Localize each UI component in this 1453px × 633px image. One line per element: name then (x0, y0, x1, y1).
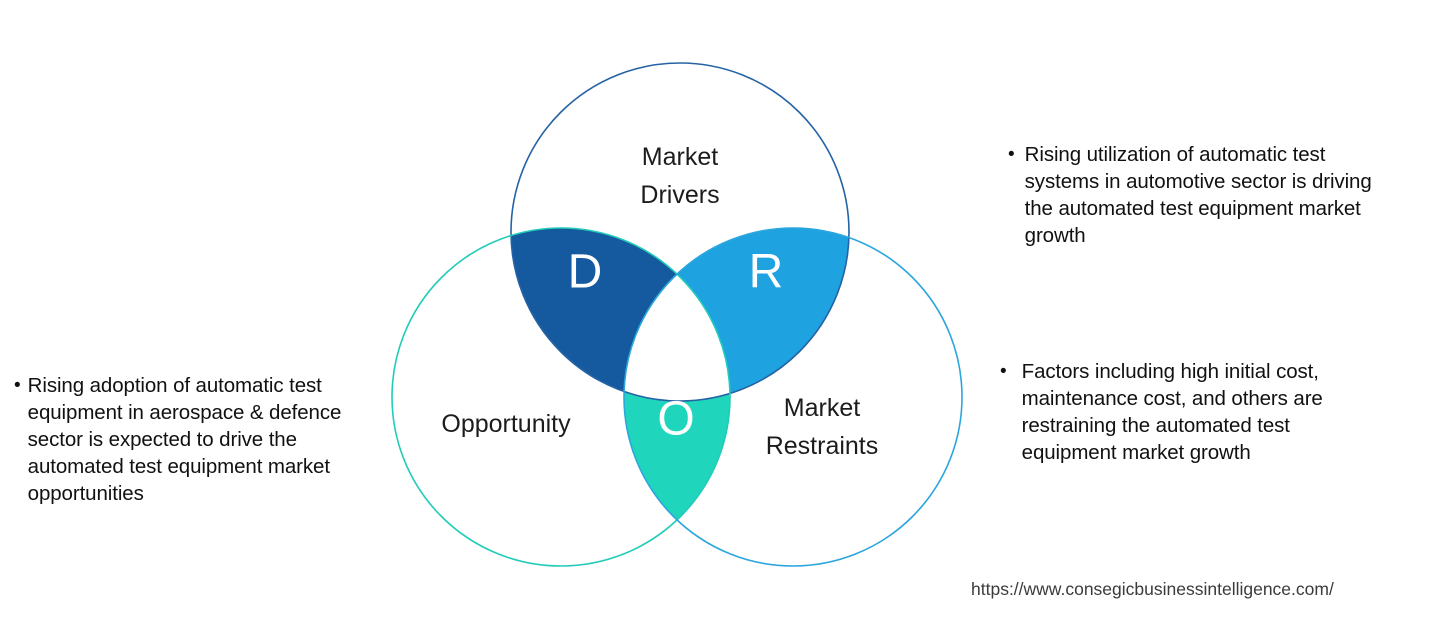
lens-letter-r: R (749, 246, 784, 299)
callout-drivers: • Rising utilization of automatic test s… (1008, 141, 1408, 249)
circle-label-opportunity: Opportunity (441, 410, 571, 438)
callout-opportunity: • Rising adoption of automatic test equi… (14, 372, 364, 507)
source-url[interactable]: https://www.consegicbusinessintelligence… (971, 578, 1334, 600)
circle-label-restraints-line1: Market (784, 394, 860, 422)
callout-opportunity-text: Rising adoption of automatic test equipm… (28, 372, 353, 507)
circle-label-drivers-line2: Drivers (640, 181, 719, 209)
circle-label-drivers-line1: Market (642, 143, 718, 171)
venn-diagram-page: D R O Market Drivers Opportunity Market … (0, 0, 1453, 633)
callout-restraints-text: Factors including high initial cost, mai… (1022, 358, 1382, 466)
lens-letter-d: D (568, 246, 603, 299)
bullet-icon: • (14, 372, 21, 399)
circle-label-restraints-line2: Restraints (766, 432, 879, 460)
callout-drivers-text: Rising utilization of automatic test sys… (1025, 141, 1395, 249)
venn-diagram: D R O Market Drivers Opportunity Market … (370, 40, 990, 600)
bullet-icon: • (1008, 141, 1015, 168)
venn-diagram-svg: D R O Market Drivers Opportunity Market … (370, 40, 990, 600)
lens-letter-o: O (657, 393, 694, 446)
bullet-icon: • (1000, 358, 1007, 385)
callout-restraints: • Factors including high initial cost, m… (1000, 358, 1400, 466)
